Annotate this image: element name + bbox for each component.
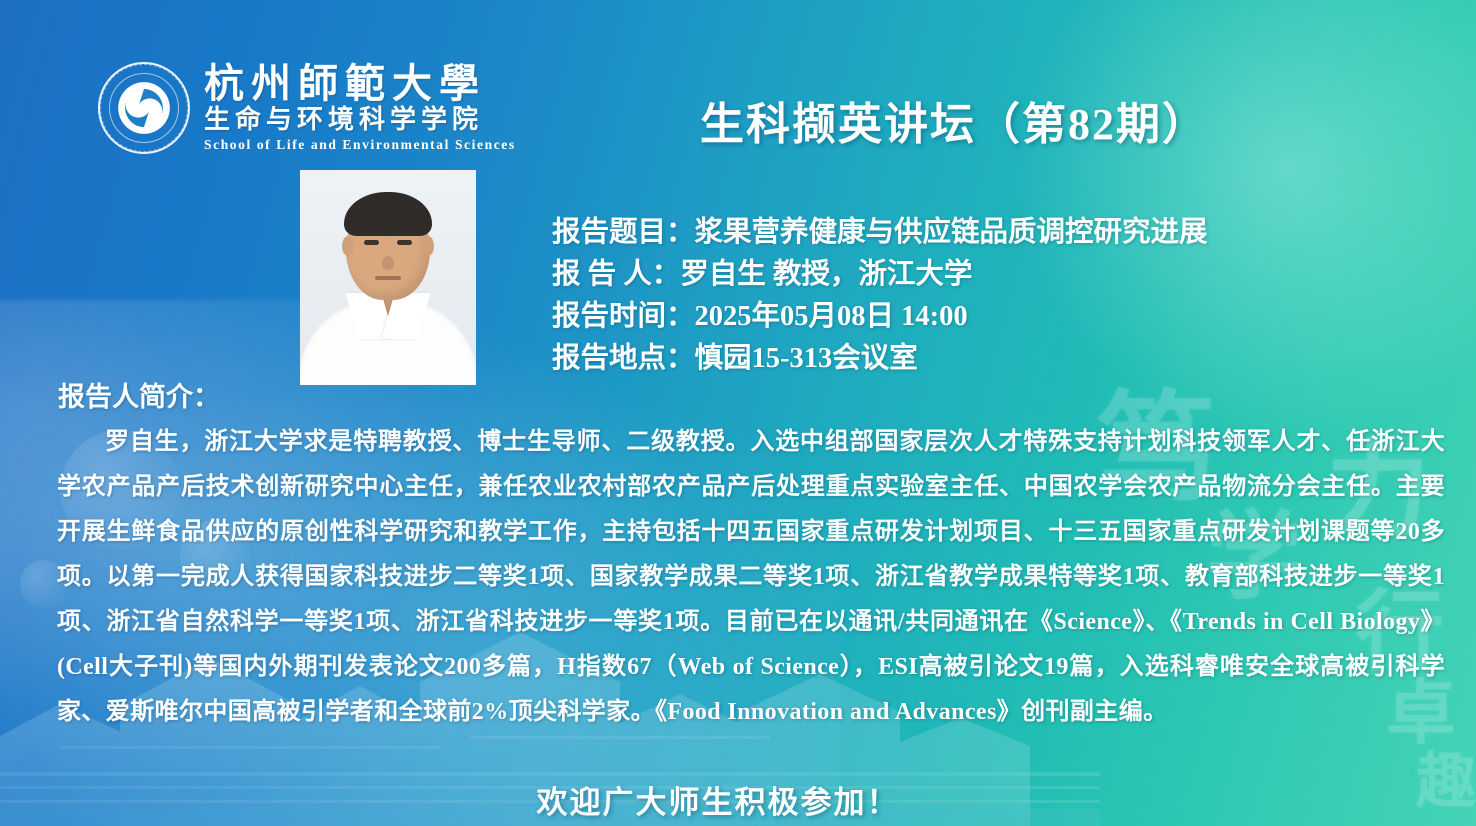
- logo-english-name: School of Life and Environmental Science…: [204, 137, 516, 153]
- speaker-portrait-photo: [300, 170, 476, 385]
- logo-university-name: 杭州師範大學: [204, 63, 516, 105]
- topic-label: 报告题目：: [552, 217, 695, 248]
- time-value: 2025年05月08日 14:00: [695, 301, 968, 332]
- place-label: 报告地点：: [552, 343, 695, 374]
- place-value: 慎园15-313会议室: [695, 343, 918, 374]
- speaker-label: 报 告 人：: [552, 259, 680, 290]
- info-row-topic: 报告题目：浆果营养健康与供应链品质调控研究进展: [552, 212, 1208, 254]
- speaker-value: 罗自生 教授，浙江大学: [680, 259, 972, 290]
- info-row-time: 报告时间：2025年05月08日 14:00: [552, 296, 1208, 338]
- info-row-speaker: 报 告 人：罗自生 教授，浙江大学: [552, 254, 1208, 296]
- poster-title: 生科撷英讲坛（第82期）: [700, 88, 1208, 152]
- bio-heading: 报告人简介：: [58, 375, 220, 414]
- seminar-poster: 笃 学 力 行 卓 趣 杭州師範大學 生命与环境科学学院 School of L…: [0, 0, 1476, 826]
- logo-college-name: 生命与环境科学学院: [204, 105, 516, 135]
- time-label: 报告时间：: [552, 301, 695, 332]
- university-logo: 杭州師範大學 生命与环境科学学院 School of Life and Envi…: [98, 62, 516, 154]
- logo-seal-icon: [98, 62, 190, 154]
- seminar-info-block: 报告题目：浆果营养健康与供应链品质调控研究进展 报 告 人：罗自生 教授，浙江大…: [552, 212, 1208, 380]
- welcome-message: 欢迎广大师生积极参加！: [0, 777, 1476, 822]
- info-row-place: 报告地点：慎园15-313会议室: [552, 338, 1208, 380]
- topic-value: 浆果营养健康与供应链品质调控研究进展: [695, 217, 1208, 248]
- bio-text: 罗自生，浙江大学求是特聘教授、博士生导师、二级教授。入选中组部国家层次人才特殊支…: [57, 420, 1445, 735]
